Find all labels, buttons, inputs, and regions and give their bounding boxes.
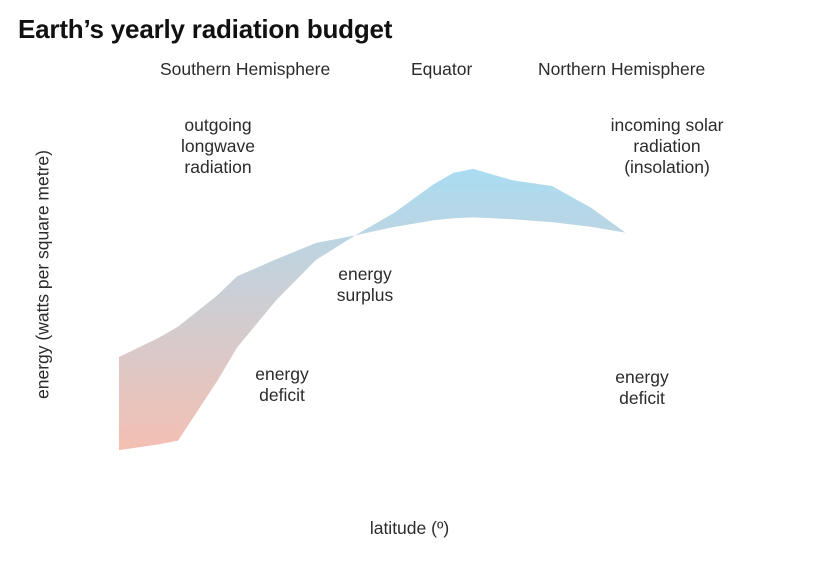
radiation-budget-chart: Earth’s yearly radiation budget Southern… (0, 0, 819, 562)
annotation-energy-deficit-north: energy deficit (596, 367, 688, 409)
annotation-outgoing-longwave: outgoing longwave radiation (158, 115, 278, 178)
annotation-energy-deficit-south: energy deficit (236, 364, 328, 406)
annotation-energy-surplus: energy surplus (317, 264, 413, 306)
region-energy-deficit-south (119, 169, 625, 450)
annotation-incoming-solar: incoming solar radiation (insolation) (584, 115, 750, 178)
